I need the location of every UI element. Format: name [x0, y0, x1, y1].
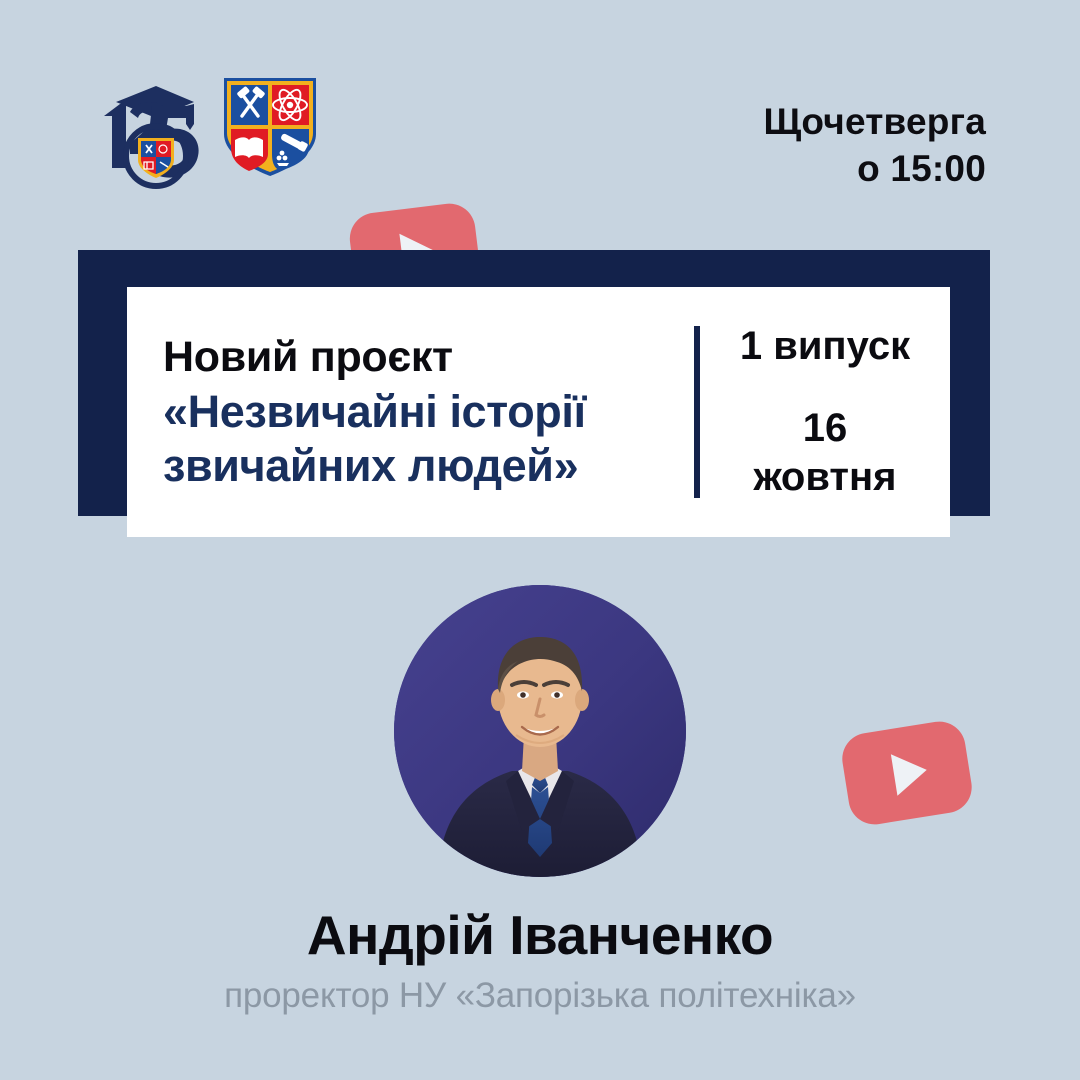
headline-eyebrow: Новий проєкт — [163, 331, 694, 383]
schedule-line-1: Щочетверга — [763, 98, 986, 145]
youtube-play-icon-bottom — [839, 718, 976, 828]
episode-date-month: жовтня — [710, 454, 940, 500]
speaker-name: Андрій Іванченко — [0, 905, 1080, 966]
episode-info-block: 1 випуск 16 жовтня — [700, 324, 950, 500]
episode-date-day: 16 — [710, 406, 940, 450]
headline-card: Новий проєкт «Незвичайні історії звичайн… — [127, 287, 950, 537]
university-coat-of-arms-icon — [220, 72, 320, 180]
schedule-text: Щочетверга о 15:00 — [763, 98, 986, 193]
promo-poster: Щочетверга о 15:00 Новий проєкт «Незвича… — [0, 0, 1080, 1080]
headline-text-block: Новий проєкт «Незвичайні історії звичайн… — [127, 331, 694, 493]
speaker-role: проректор НУ «Запорізька політехніка» — [0, 975, 1080, 1017]
speaker-portrait-avatar — [394, 585, 686, 877]
anniversary-125-logo-icon — [94, 72, 206, 190]
schedule-line-2: о 15:00 — [763, 145, 986, 192]
headline-title-line-1: «Незвичайні історії — [163, 385, 694, 439]
episode-number: 1 випуск — [710, 324, 940, 368]
play-triangle — [891, 749, 930, 796]
headline-title-line-2: звичайних людей» — [163, 439, 694, 493]
headline-title: «Незвичайні історії звичайних людей» — [163, 385, 694, 493]
logo-row — [94, 72, 320, 190]
